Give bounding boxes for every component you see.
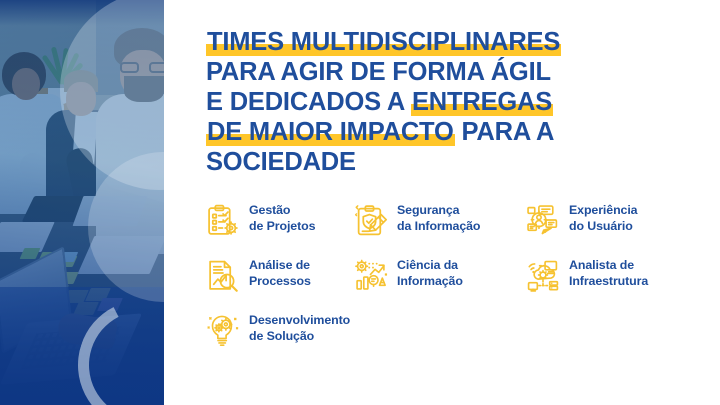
service-item[interactable]: Analista deInfraestrutura: [526, 257, 716, 292]
service-label-line2: Processos: [249, 274, 311, 290]
headline-line-3: E DEDICADOS A ENTREGAS: [206, 88, 706, 117]
service-label-line1: Ciência da: [397, 258, 463, 274]
clipboard-shield-check-icon: [354, 203, 388, 237]
wireframe-user-design-icon: [526, 203, 560, 237]
headline-text: SOCIEDADE: [206, 148, 356, 176]
service-label: Experiênciado Usuário: [569, 202, 637, 234]
service-label-line1: Segurança: [397, 203, 480, 219]
service-label-line1: Desenvolvimento: [249, 313, 350, 329]
service-label-line2: Infraestrutura: [569, 274, 648, 290]
service-label: Ciência daInformação: [397, 257, 463, 289]
page-title: TIMES MULTIDISCIPLINARESPARA AGIR DE FOR…: [206, 28, 706, 178]
service-label-line2: da Informação: [397, 219, 480, 235]
service-label-line1: Gestão: [249, 203, 315, 219]
service-label: Segurançada Informação: [397, 202, 480, 234]
service-label-line1: Análise de: [249, 258, 311, 274]
service-label: Analista deInfraestrutura: [569, 257, 648, 289]
content-area: TIMES MULTIDISCIPLINARESPARA AGIR DE FOR…: [164, 0, 720, 405]
services-row: Gestãode ProjetosSegurançada InformaçãoE…: [206, 202, 716, 237]
service-item[interactable]: Desenvolvimentode Solução: [206, 312, 354, 347]
service-label-line1: Analista de: [569, 258, 648, 274]
headline-line-4: DE MAIOR IMPACTO PARA A: [206, 118, 706, 147]
headline-line-5: SOCIEDADE: [206, 148, 706, 177]
services-grid: Gestãode ProjetosSegurançada InformaçãoE…: [206, 202, 716, 347]
service-item[interactable]: Análise deProcessos: [206, 257, 354, 292]
service-label: Desenvolvimentode Solução: [249, 312, 350, 344]
service-item[interactable]: Experiênciado Usuário: [526, 202, 716, 237]
headline-text: PARA A: [455, 118, 555, 146]
service-item[interactable]: Gestãode Projetos: [206, 202, 354, 237]
service-label: Gestãode Projetos: [249, 202, 315, 234]
service-item[interactable]: Segurançada Informação: [354, 202, 526, 237]
headline-line-2: PARA AGIR DE FORMA ÁGIL: [206, 58, 706, 87]
service-label-line2: do Usuário: [569, 219, 637, 235]
service-label-line2: Informação: [397, 274, 463, 290]
service-label-line2: de Projetos: [249, 219, 315, 235]
lightbulb-gears-icon: [206, 313, 240, 347]
services-row: Análise deProcessosCiência daInformaçãoA…: [206, 257, 716, 292]
headline-line-1: TIMES MULTIDISCIPLINARES: [206, 28, 706, 57]
cloud-network-server-icon: [526, 258, 560, 292]
headline-text: E DEDICADOS A: [206, 88, 411, 116]
headline-highlight: TIMES MULTIDISCIPLINARES: [206, 28, 561, 56]
service-item[interactable]: Ciência daInformação: [354, 257, 526, 292]
service-label: Análise deProcessos: [249, 257, 311, 289]
service-label-line1: Experiência: [569, 203, 637, 219]
document-magnifier-chart-icon: [206, 258, 240, 292]
service-label-line2: de Solução: [249, 329, 350, 345]
services-row: Desenvolvimentode Solução: [206, 312, 716, 347]
headline-text: PARA AGIR DE FORMA ÁGIL: [206, 58, 551, 86]
team-collaboration-photo: [0, 0, 164, 405]
data-science-chart-gear-icon: [354, 258, 388, 292]
headline-highlight: DE MAIOR IMPACTO: [206, 118, 455, 146]
clipboard-checklist-gear-icon: [206, 203, 240, 237]
headline-highlight: ENTREGAS: [411, 88, 553, 116]
slide-canvas: TIMES MULTIDISCIPLINARESPARA AGIR DE FOR…: [0, 0, 720, 405]
